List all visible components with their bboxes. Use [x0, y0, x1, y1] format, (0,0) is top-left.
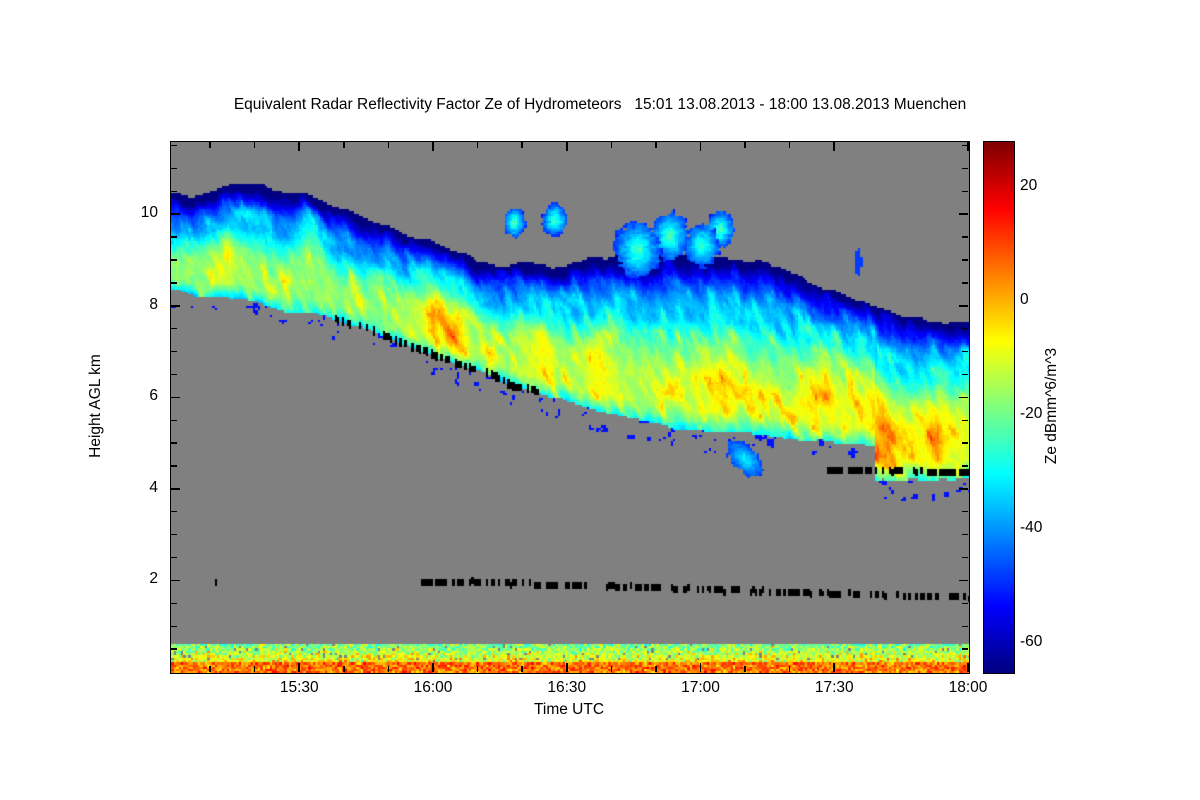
x-axis-tick-minor — [611, 666, 612, 672]
colorbar-tick-label: 0 — [1020, 291, 1029, 309]
y-axis-tick-minor-right — [962, 282, 968, 283]
y-axis-tick-minor-right — [962, 442, 968, 443]
reflectivity-heatmap — [171, 142, 969, 673]
y-axis-tick-minor — [171, 420, 177, 421]
y-axis-tick-major — [171, 305, 180, 307]
y-axis-tick-minor — [171, 282, 177, 283]
y-axis-tick-minor — [171, 511, 177, 512]
x-axis-tick-minor — [789, 666, 790, 672]
colorbar-tick-label: -20 — [1020, 405, 1042, 423]
y-axis-tick-minor — [171, 557, 177, 558]
y-axis-tick-minor — [171, 145, 177, 146]
y-axis-tick-major — [171, 213, 180, 215]
x-axis-tick-major — [700, 663, 702, 672]
y-axis-tick-minor — [171, 351, 177, 352]
y-axis-tick-label: 2 — [118, 570, 158, 588]
x-axis-tick-minor — [388, 666, 389, 672]
colorbar-label: Ze dBmm^6/m^3 — [1043, 348, 1061, 464]
y-axis-tick-minor-right — [962, 420, 968, 421]
x-axis-tick-minor-top — [477, 142, 478, 148]
y-axis-tick-minor — [171, 534, 177, 535]
x-axis-tick-major — [298, 663, 300, 672]
y-axis-tick-major-right — [959, 580, 968, 582]
x-axis-tick-minor — [343, 666, 344, 672]
y-axis-tick-major — [171, 488, 180, 490]
x-axis-tick-major-top — [700, 142, 702, 151]
x-axis-tick-major-top — [566, 142, 568, 151]
y-axis-tick-major-right — [959, 488, 968, 490]
y-axis-tick-minor-right — [962, 648, 968, 649]
x-axis-tick-minor-top — [254, 142, 255, 148]
x-axis-tick-major — [566, 663, 568, 672]
x-axis-tick-major — [432, 663, 434, 672]
x-axis-tick-minor-top — [521, 142, 522, 148]
y-axis-tick-label: 4 — [118, 479, 158, 497]
x-axis-tick-minor-top — [209, 142, 210, 148]
y-axis-label: Height AGL km — [87, 354, 105, 458]
colorbar-gradient — [984, 142, 1014, 673]
y-axis-tick-minor-right — [962, 236, 968, 237]
x-axis-tick-minor-top — [611, 142, 612, 148]
y-axis-tick-minor — [171, 191, 177, 192]
x-axis-tick-major-top — [298, 142, 300, 151]
y-axis-tick-minor — [171, 465, 177, 466]
y-axis-tick-minor-right — [962, 191, 968, 192]
x-axis-tick-major — [833, 663, 835, 672]
x-axis-tick-major-top — [432, 142, 434, 151]
y-axis-tick-label: 8 — [118, 296, 158, 314]
x-axis-tick-label: 17:30 — [799, 679, 869, 697]
y-axis-tick-minor — [171, 442, 177, 443]
x-axis-tick-minor-top — [789, 142, 790, 148]
x-axis-tick-label: 16:30 — [532, 679, 602, 697]
colorbar-tick-label: 20 — [1020, 177, 1037, 195]
x-axis-tick-minor-top — [655, 142, 656, 148]
y-axis-tick-label: 10 — [118, 204, 158, 222]
x-axis-tick-minor-top — [388, 142, 389, 148]
plot-area — [170, 141, 970, 674]
x-axis-tick-minor — [521, 666, 522, 672]
y-axis-tick-major — [171, 397, 180, 399]
x-axis-tick-label: 17:00 — [666, 679, 736, 697]
x-axis-tick-minor — [655, 666, 656, 672]
y-axis-tick-minor-right — [962, 626, 968, 627]
y-axis-tick-minor-right — [962, 374, 968, 375]
colorbar-tick-label: -60 — [1020, 633, 1042, 651]
y-axis-tick-label: 6 — [118, 387, 158, 405]
y-axis-tick-minor-right — [962, 534, 968, 535]
chart-title: Equivalent Radar Reflectivity Factor Ze … — [0, 96, 1200, 114]
x-axis-tick-major-top — [967, 142, 969, 151]
y-axis-tick-minor-right — [962, 511, 968, 512]
chart-page: Equivalent Radar Reflectivity Factor Ze … — [0, 0, 1200, 800]
y-axis-tick-major-right — [959, 213, 968, 215]
y-axis-tick-major — [171, 580, 180, 582]
x-axis-label: Time UTC — [534, 701, 604, 719]
y-axis-tick-minor — [171, 603, 177, 604]
y-axis-tick-major-right — [959, 305, 968, 307]
y-axis-tick-minor-right — [962, 328, 968, 329]
y-axis-tick-minor-right — [962, 557, 968, 558]
y-axis-tick-minor-right — [962, 259, 968, 260]
x-axis-tick-minor-top — [343, 142, 344, 148]
y-axis-tick-minor — [171, 648, 177, 649]
y-axis-tick-minor-right — [962, 465, 968, 466]
x-axis-tick-minor — [477, 666, 478, 672]
y-axis-tick-minor — [171, 374, 177, 375]
x-axis-tick-label: 18:00 — [933, 679, 1003, 697]
x-axis-tick-minor-top — [744, 142, 745, 148]
y-axis-tick-minor — [171, 259, 177, 260]
colorbar — [983, 141, 1015, 674]
x-axis-tick-major — [967, 663, 969, 672]
y-axis-tick-minor-right — [962, 351, 968, 352]
y-axis-tick-minor — [171, 236, 177, 237]
x-axis-tick-label: 15:30 — [264, 679, 334, 697]
x-axis-tick-minor — [209, 666, 210, 672]
colorbar-tick-label: -40 — [1020, 519, 1042, 537]
y-axis-tick-minor-right — [962, 603, 968, 604]
x-axis-tick-minor — [744, 666, 745, 672]
y-axis-tick-major-right — [959, 397, 968, 399]
y-axis-tick-minor — [171, 328, 177, 329]
y-axis-tick-minor — [171, 626, 177, 627]
x-axis-tick-label: 16:00 — [398, 679, 468, 697]
y-axis-tick-minor — [171, 168, 177, 169]
x-axis-tick-minor — [254, 666, 255, 672]
x-axis-tick-major-top — [833, 142, 835, 151]
y-axis-tick-minor-right — [962, 168, 968, 169]
